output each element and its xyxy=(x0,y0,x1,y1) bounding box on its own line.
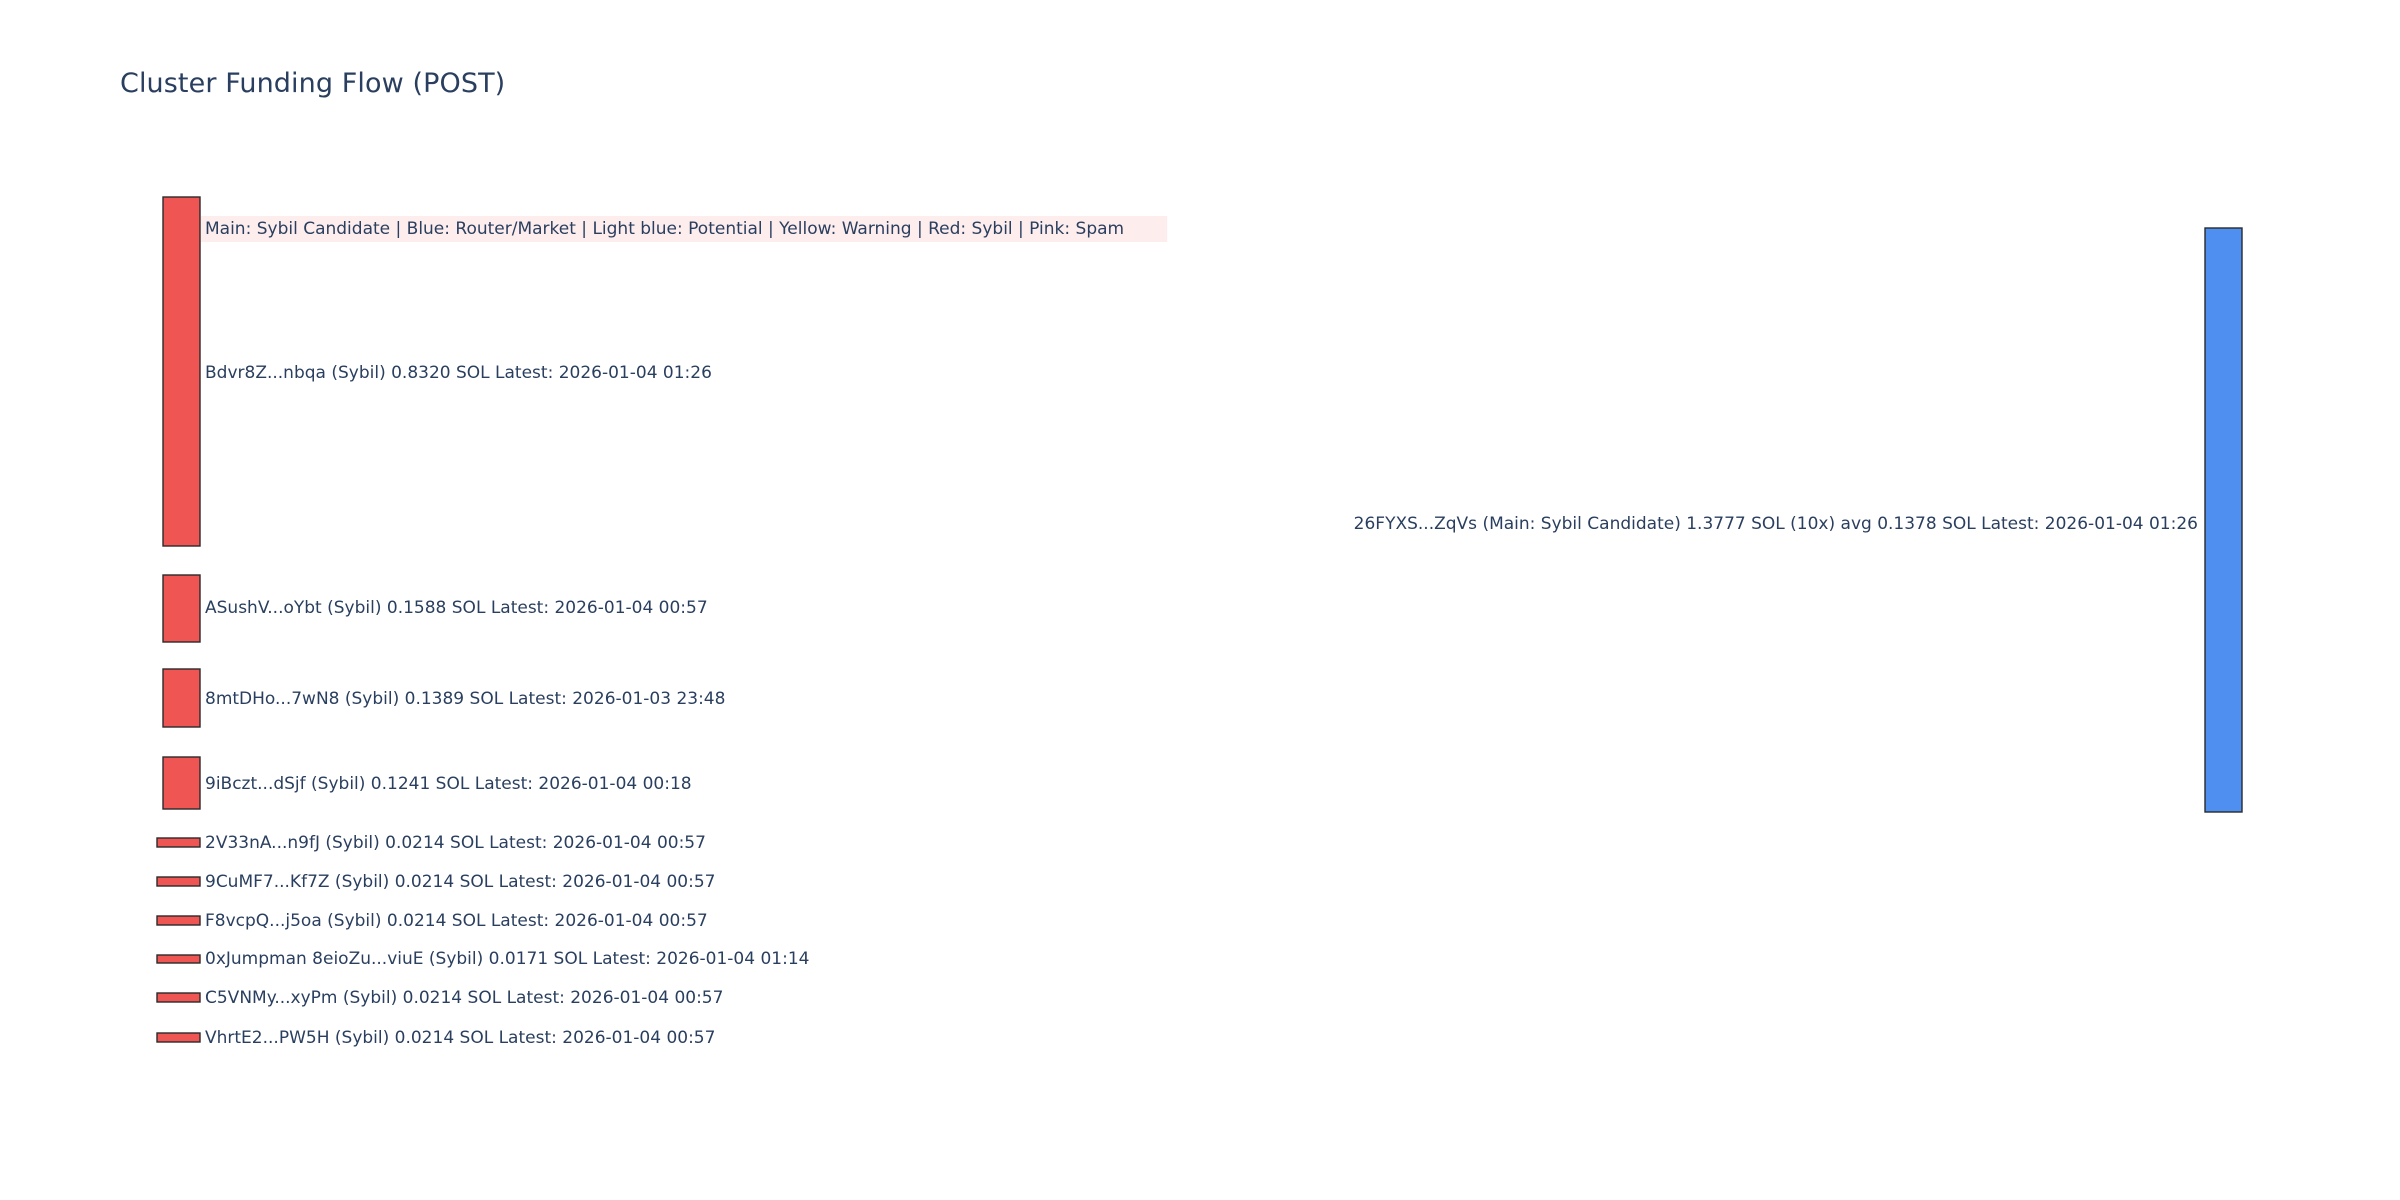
sankey-node-label-src1: ASushV...oYbt (Sybil) 0.1588 SOL Latest:… xyxy=(205,598,708,618)
sankey-node-label-src6: F8vcpQ...j5oa (Sybil) 0.0214 SOL Latest:… xyxy=(205,911,708,931)
sankey-node-label-src0: Bdvr8Z...nbqa (Sybil) 0.8320 SOL Latest:… xyxy=(205,363,712,383)
sankey-link[interactable] xyxy=(200,795,2205,1002)
sankey-node-src9[interactable] xyxy=(157,1033,200,1042)
sankey-legend-layer: Main: Sybil Candidate | Blue: Router/Mar… xyxy=(201,216,1167,242)
sankey-node-src2[interactable] xyxy=(163,669,200,727)
sankey-node-src8[interactable] xyxy=(157,993,200,1002)
sankey-svg: Bdvr8Z...nbqa (Sybil) 0.8320 SOL Latest:… xyxy=(0,0,2400,1200)
sankey-node-label-main: 26FYXS...ZqVs (Main: Sybil Candidate) 1.… xyxy=(1354,514,2198,534)
sankey-node-src6[interactable] xyxy=(157,916,200,925)
sankey-node-src7[interactable] xyxy=(157,955,200,963)
sankey-node-label-src3: 9iBczt...dSjf (Sybil) 0.1241 SOL Latest:… xyxy=(205,774,692,794)
sankey-node-src1[interactable] xyxy=(163,575,200,642)
sankey-node-label-src9: VhrtE2...PW5H (Sybil) 0.0214 SOL Latest:… xyxy=(205,1028,715,1048)
sankey-node-src3[interactable] xyxy=(163,757,200,809)
sankey-node-label-src7: 0xJumpman 8eioZu...viuE (Sybil) 0.0171 S… xyxy=(205,949,809,969)
legend-text: Main: Sybil Candidate | Blue: Router/Mar… xyxy=(205,219,1124,239)
sankey-node-label-src8: C5VNMy...xyPm (Sybil) 0.0214 SOL Latest:… xyxy=(205,988,723,1008)
sankey-node-main[interactable] xyxy=(2205,228,2242,812)
sankey-labels-layer: Bdvr8Z...nbqa (Sybil) 0.8320 SOL Latest:… xyxy=(205,363,2198,1048)
sankey-node-label-src2: 8mtDHo...7wN8 (Sybil) 0.1389 SOL Latest:… xyxy=(205,689,725,709)
sankey-chart-root: Cluster Funding Flow (POST) Bdvr8Z...nbq… xyxy=(0,0,2400,1200)
sankey-node-src0[interactable] xyxy=(163,197,200,546)
sankey-link[interactable] xyxy=(200,648,2205,727)
sankey-node-label-src4: 2V33nA...n9fJ (Sybil) 0.0214 SOL Latest:… xyxy=(205,833,706,853)
sankey-node-src4[interactable] xyxy=(157,838,200,847)
sankey-node-label-src5: 9CuMF7...Kf7Z (Sybil) 0.0214 SOL Latest:… xyxy=(205,872,715,892)
sankey-node-src5[interactable] xyxy=(157,877,200,886)
